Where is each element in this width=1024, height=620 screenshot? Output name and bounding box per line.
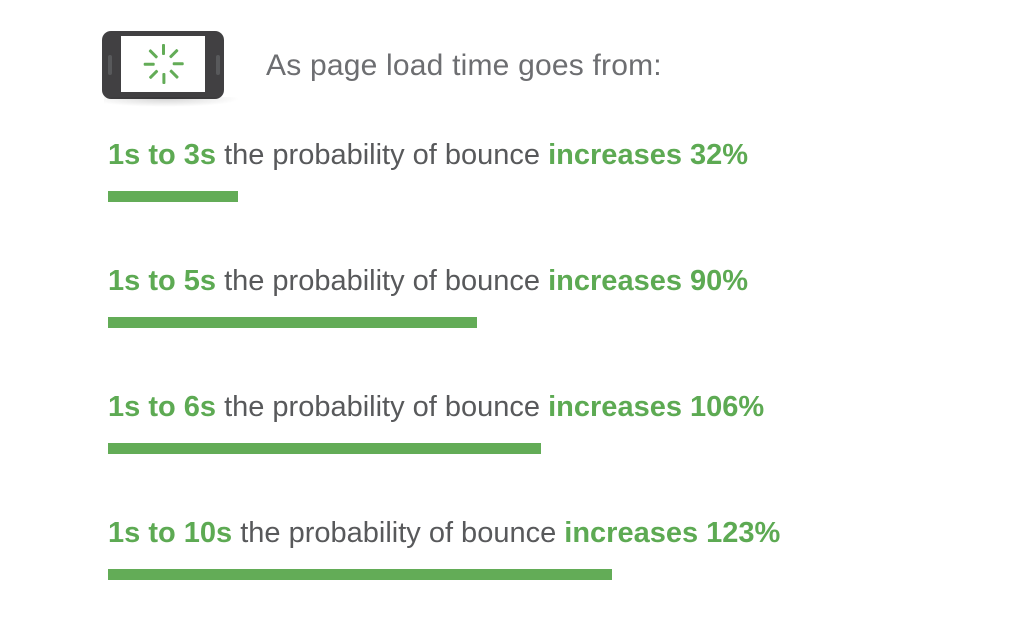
phone-speaker-left (108, 55, 112, 75)
bounce-row-text: 1s to 3s the probability of bounce incre… (108, 138, 988, 172)
header: As page load time goes from: (100, 26, 662, 106)
bounce-phrase: the probability of bounce (240, 517, 556, 549)
bar-fill (108, 443, 541, 454)
page-title: As page load time goes from: (266, 49, 662, 83)
bar-fill (108, 569, 612, 580)
bounce-increase-value: increases 32% (548, 139, 748, 171)
bar-fill (108, 191, 238, 202)
bounce-increase-value: increases 90% (548, 265, 748, 297)
load-time-range: 1s to 6s (108, 391, 216, 423)
bar-track (108, 317, 988, 328)
bar-track (108, 191, 988, 202)
bounce-row: 1s to 6s the probability of bounce incre… (108, 390, 988, 516)
bounce-row-text: 1s to 10s the probability of bounce incr… (108, 516, 988, 550)
bounce-row: 1s to 3s the probability of bounce incre… (108, 138, 988, 264)
load-time-range: 1s to 5s (108, 265, 216, 297)
bounce-row-text: 1s to 6s the probability of bounce incre… (108, 390, 988, 424)
phone-shadow (104, 97, 240, 107)
bounce-phrase: the probability of bounce (224, 391, 540, 423)
bar-fill (108, 317, 477, 328)
bar-track (108, 569, 988, 580)
bounce-phrase: the probability of bounce (224, 139, 540, 171)
phone-loading-icon (100, 29, 228, 103)
bounce-increase-value: increases 106% (548, 391, 764, 423)
loading-spinner-icon (142, 43, 184, 85)
bar-track (108, 443, 988, 454)
bounce-row-text: 1s to 5s the probability of bounce incre… (108, 264, 988, 298)
bounce-row: 1s to 5s the probability of bounce incre… (108, 264, 988, 390)
load-time-range: 1s to 10s (108, 517, 232, 549)
load-time-range: 1s to 3s (108, 139, 216, 171)
bounce-increase-value: increases 123% (564, 517, 780, 549)
bounce-rows: 1s to 3s the probability of bounce incre… (108, 138, 988, 616)
phone-speaker-right (216, 55, 220, 75)
infographic-root: As page load time goes from: 1s to 3s th… (0, 0, 1024, 620)
bounce-phrase: the probability of bounce (224, 265, 540, 297)
bounce-row: 1s to 10s the probability of bounce incr… (108, 516, 988, 616)
